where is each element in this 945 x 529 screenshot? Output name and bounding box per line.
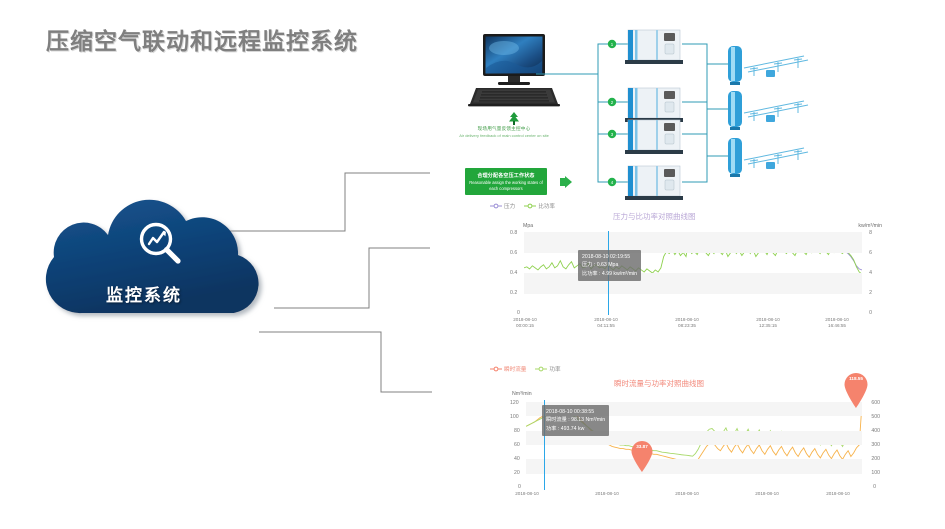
chart1-xtick-2: 2018-08-10 08:23:35 bbox=[662, 317, 712, 328]
chart1-legend-item-0[interactable]: 压力 bbox=[490, 202, 515, 210]
schematic-panel: 现场用气量反馈主控中心 Air delivery feedback of mai… bbox=[432, 16, 937, 201]
legend-marker-icon bbox=[535, 366, 547, 372]
chart2-ylabel: Nm³/min bbox=[512, 391, 532, 397]
xtick-date: 2018-08-10 bbox=[742, 491, 792, 497]
chart1-ylabel: Mpa bbox=[523, 223, 533, 229]
chart1-tooltip-time: 2018-08-10 02:19:55 bbox=[582, 253, 637, 261]
compressor-unit bbox=[625, 30, 683, 64]
xtick-date: 2018-08-10 bbox=[502, 491, 552, 497]
chart1-legend[interactable]: 压力 比功率 bbox=[490, 202, 555, 210]
chart2-ytick-5: 20 bbox=[514, 470, 520, 476]
compressor-node-badge: 1 bbox=[608, 40, 616, 48]
chart2-y2tick-4: 200 bbox=[871, 456, 880, 462]
xtick-time: 12:35:15 bbox=[743, 323, 793, 329]
chart1-y2tick-0: 8 bbox=[869, 230, 872, 236]
compressor-unit bbox=[625, 166, 683, 200]
chart1-y2tick-3: 2 bbox=[869, 290, 872, 296]
chart2-legend-label-0: 瞬时流量 bbox=[504, 365, 526, 373]
instant-flow-vs-power-chart: 瞬时流量 功率 瞬时流量与功率对照曲线图 Nm³/min 120 100 80 … bbox=[484, 364, 884, 529]
compressor-unit bbox=[625, 88, 683, 122]
slide-root: 压缩空气联动和远程监控系统 bbox=[0, 0, 945, 529]
xtick-date: 2018-08-10 bbox=[813, 491, 863, 497]
chart2-xtick-4: 2018-08-10 bbox=[813, 491, 863, 497]
chart2-ytick-2: 80 bbox=[514, 428, 520, 434]
chart1-plot-area bbox=[524, 232, 862, 314]
chart1-band bbox=[524, 273, 862, 294]
chart2-ytick-4: 40 bbox=[514, 456, 520, 462]
chart2-xtick-2: 2018-08-10 bbox=[662, 491, 712, 497]
compressor-node-badge: 2 bbox=[608, 98, 616, 106]
chart1-legend-label-0: 压力 bbox=[504, 202, 515, 210]
xtick-time: 16:46:55 bbox=[812, 323, 862, 329]
xtick-time: 00:00:15 bbox=[500, 323, 550, 329]
chart1-y2tick-1: 6 bbox=[869, 250, 872, 256]
legend-marker-icon bbox=[524, 203, 536, 209]
chart1-ytick-1: 0.6 bbox=[510, 250, 517, 256]
storage-tank-group bbox=[728, 91, 808, 130]
chart2-max-marker-value: 118.55 bbox=[843, 376, 869, 381]
chart2-tooltip-line2: 功率 : 493.74 kw bbox=[546, 425, 605, 433]
compressor-unit bbox=[625, 120, 683, 154]
chart1-ytick-3: 0.2 bbox=[510, 290, 517, 296]
chart2-legend-label-1: 功率 bbox=[549, 365, 560, 373]
storage-tank-group bbox=[728, 138, 808, 177]
chart1-y2tick-4: 0 bbox=[869, 310, 872, 316]
chart1-y2tick-2: 4 bbox=[869, 270, 872, 276]
chart1-title: 压力与比功率对照曲线图 bbox=[613, 211, 696, 222]
legend-marker-icon bbox=[490, 366, 502, 372]
chart1-ytick-2: 0.4 bbox=[510, 270, 517, 276]
chart1-band bbox=[524, 232, 862, 253]
chart1-ytick-0: 0.8 bbox=[510, 230, 517, 236]
compressor-node-badge: 3 bbox=[608, 130, 616, 138]
piping-network: 1 2 3 4 bbox=[432, 16, 937, 201]
monitoring-cloud[interactable]: 监控系统 bbox=[28, 195, 288, 335]
chart1-xtick-4: 2018-08-10 16:46:55 bbox=[812, 317, 862, 328]
chart1-legend-label-1: 比功率 bbox=[538, 202, 555, 210]
chart2-tooltip-time: 2018-08-10 00:38:55 bbox=[546, 408, 605, 416]
chart2-min-marker[interactable]: 33.87 bbox=[630, 440, 654, 472]
chart2-tooltip-line1: 瞬时流量 : 98.13 Nm³/min bbox=[546, 416, 605, 424]
chart2-y2tick-0: 600 bbox=[871, 400, 880, 406]
chart2-ytick-1: 100 bbox=[510, 414, 519, 420]
chart2-band bbox=[526, 459, 862, 473]
chart2-tooltip: 2018-08-10 00:38:55 瞬时流量 : 98.13 Nm³/min… bbox=[542, 405, 609, 436]
chart2-xtick-1: 2018-08-10 bbox=[582, 491, 632, 497]
chart2-y2tick-5: 100 bbox=[871, 470, 880, 476]
chart2-title: 瞬时流量与功率对照曲线图 bbox=[614, 378, 704, 389]
chart2-legend[interactable]: 瞬时流量 功率 bbox=[490, 365, 561, 373]
chart2-y2tick-6: 0 bbox=[873, 484, 876, 490]
legend-marker-icon bbox=[490, 203, 502, 209]
chart1-xtick-0: 2018-08-10 00:00:15 bbox=[500, 317, 550, 328]
chart2-y2tick-2: 400 bbox=[871, 428, 880, 434]
chart1-tooltip-line1: 压力 : 0.63 Mpa bbox=[582, 261, 637, 269]
chart2-xtick-0: 2018-08-10 bbox=[502, 491, 552, 497]
chart1-y2label: kw/m³/min bbox=[858, 223, 882, 229]
xtick-time: 04:11:55 bbox=[581, 323, 631, 329]
chart1-xtick-1: 2018-08-10 04:11:55 bbox=[581, 317, 631, 328]
chart1-xtick-3: 2018-08-10 12:35:15 bbox=[743, 317, 793, 328]
compressor-node-badge: 4 bbox=[608, 178, 616, 186]
chart1-tooltip-line2: 比功率 : 4.99 kw/m³/min bbox=[582, 270, 637, 278]
chart2-y2tick-3: 300 bbox=[871, 442, 880, 448]
chart2-ytick-0: 120 bbox=[510, 400, 519, 406]
xtick-time: 08:23:35 bbox=[662, 323, 712, 329]
xtick-date: 2018-08-10 bbox=[582, 491, 632, 497]
chart2-legend-item-1[interactable]: 功率 bbox=[535, 365, 560, 373]
chart1-tooltip: 2018-08-10 02:19:55 压力 : 0.63 Mpa 比功率 : … bbox=[578, 250, 641, 281]
chart1-ytick-4: 0 bbox=[517, 310, 520, 316]
magnifier-chart-icon bbox=[133, 217, 187, 271]
xtick-date: 2018-08-10 bbox=[662, 491, 712, 497]
pressure-vs-specific-power-chart: 压力 比功率 压力与比功率对照曲线图 Mpa kw/m³/min 0.8 0.6… bbox=[484, 202, 884, 334]
chart2-ytick-6: 0 bbox=[518, 484, 521, 490]
page-title: 压缩空气联动和远程监控系统 bbox=[46, 22, 358, 56]
chart2-xtick-3: 2018-08-10 bbox=[742, 491, 792, 497]
chart1-legend-item-1[interactable]: 比功率 bbox=[524, 202, 555, 210]
chart2-ytick-3: 60 bbox=[514, 442, 520, 448]
chart2-max-marker[interactable]: 118.55 bbox=[843, 372, 869, 408]
storage-tank-group bbox=[728, 46, 808, 85]
chart2-y2tick-1: 500 bbox=[871, 414, 880, 420]
chart2-legend-item-0[interactable]: 瞬时流量 bbox=[490, 365, 526, 373]
chart2-min-marker-value: 33.87 bbox=[630, 444, 654, 449]
